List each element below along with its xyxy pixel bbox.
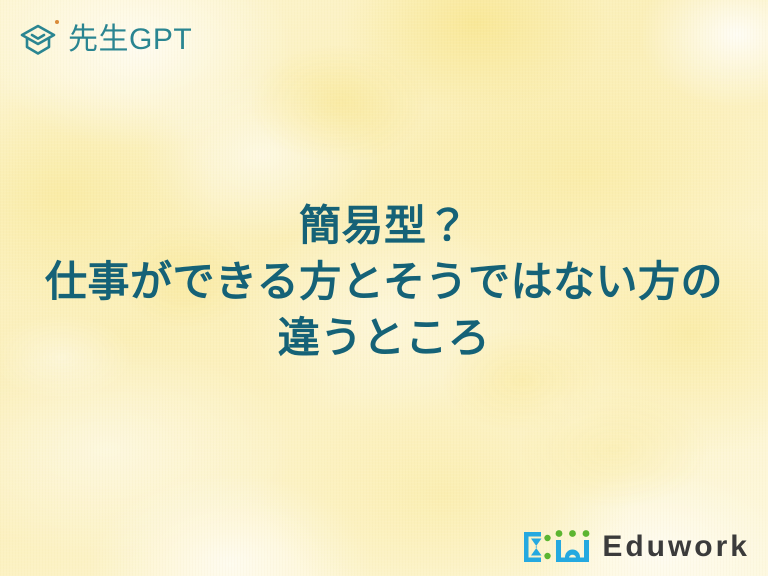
registered-mark-dot-icon: [55, 20, 59, 24]
brand-name: 先生GPT: [68, 25, 192, 55]
slide-canvas: 先生GPT 簡易型？ 仕事ができる方とそうではない方の 違うところ: [0, 0, 768, 576]
page-title: 簡易型？ 仕事ができる方とそうではない方の 違うところ: [0, 198, 768, 366]
title-line-1: 簡易型？: [18, 198, 750, 254]
eduwork-mark-icon: [523, 528, 591, 566]
title-line-2: 仕事ができる方とそうではない方の: [18, 254, 750, 310]
eduwork-wordmark: Eduwork: [602, 532, 750, 562]
eduwork-logo[interactable]: Eduwork: [523, 528, 750, 566]
title-line-3: 違うところ: [18, 310, 750, 366]
brand-logo[interactable]: 先生GPT: [16, 18, 192, 62]
graduation-cap-hexagon-icon: [16, 18, 60, 62]
